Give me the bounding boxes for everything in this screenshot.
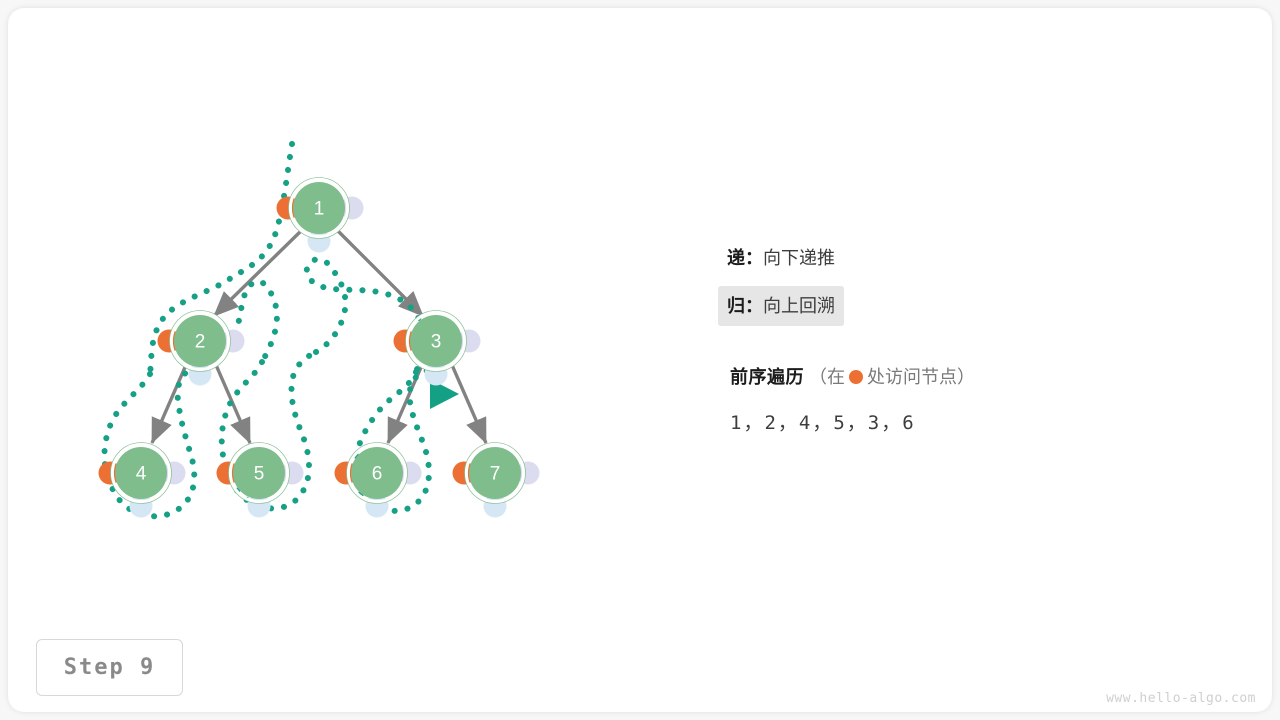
node-value-label: 1: [314, 199, 325, 220]
screenshot-root: 1 2 3 4: [0, 0, 1280, 720]
node-value-label: 4: [136, 464, 147, 485]
traversal-title-prefix: （在: [809, 367, 845, 387]
tree-node-3[interactable]: 3: [394, 311, 481, 386]
legend-backtrack-label: 归：: [727, 296, 763, 316]
traversal-sequence: 1，2，4，5，3，6: [730, 408, 1190, 435]
orange-dot-icon: [849, 370, 863, 384]
tree-node-7[interactable]: 7: [453, 443, 540, 518]
tree-node-4[interactable]: 4: [99, 443, 186, 518]
traversal-title-suffix: 处访问节点）: [867, 367, 975, 387]
node-value-label: 6: [372, 464, 383, 485]
traversal-type-label: 前序遍历: [730, 367, 804, 387]
legend-recurse-text: 向下递推: [763, 248, 835, 268]
node-value-label: 3: [431, 332, 442, 353]
legend-recurse-label: 递：: [727, 248, 763, 268]
edge-2-4: [152, 365, 186, 443]
node-value-label: 7: [490, 464, 501, 485]
edge-1-2: [214, 230, 302, 316]
legend-recurse: 递：向下递推: [727, 238, 1147, 278]
edge-3-7: [452, 365, 486, 443]
traversal-order-panel: 前序遍历 （在处访问节点） 1，2，4，5，3，6: [730, 360, 1190, 435]
node-value-label: 2: [195, 332, 206, 353]
edge-1-3: [337, 230, 423, 316]
path-segment-cross-to-3: [307, 259, 423, 372]
traversal-order-title: 前序遍历 （在处访问节点）: [730, 360, 1190, 394]
site-watermark: www.hello-algo.com: [1106, 691, 1256, 706]
legend-backtrack-text: 向上回溯: [763, 296, 835, 316]
node-value-label: 5: [254, 464, 265, 485]
tree-node-5[interactable]: 5: [217, 443, 304, 518]
legend-panel: 递：向下递推 归：向上回溯: [727, 238, 1147, 326]
step-badge: Step 9: [36, 639, 183, 696]
legend-backtrack: 归：向上回溯: [718, 286, 844, 326]
tree-node-2[interactable]: 2: [158, 311, 245, 386]
